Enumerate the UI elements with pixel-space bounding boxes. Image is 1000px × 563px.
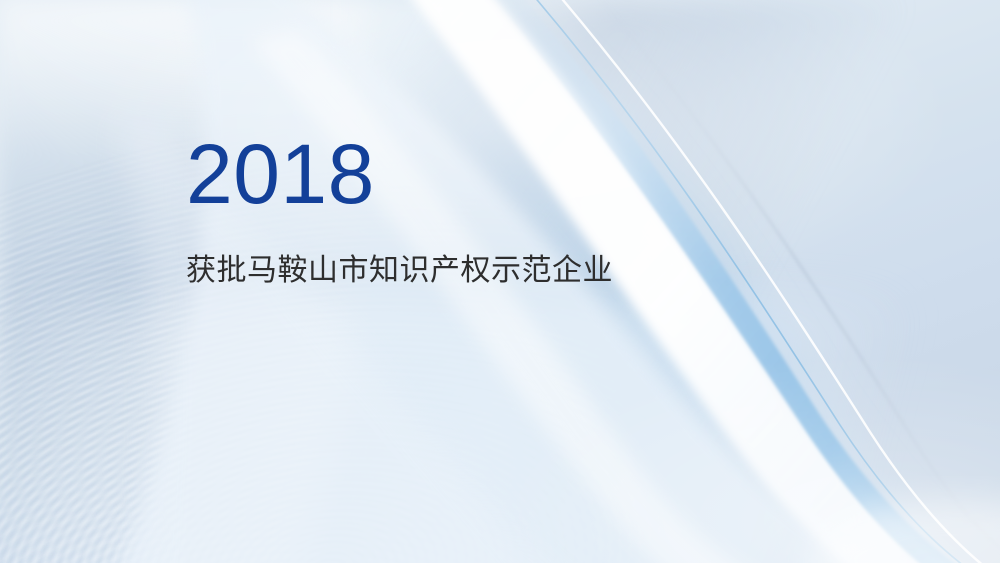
subtitle-text: 获批马鞍山市知识产权示范企业 [186,256,613,286]
title-text-block: 2018 获批马鞍山市知识产权示范企业 [186,132,613,286]
slide-canvas: 2018 获批马鞍山市知识产权示范企业 [0,0,1000,563]
year-heading: 2018 [186,132,613,216]
